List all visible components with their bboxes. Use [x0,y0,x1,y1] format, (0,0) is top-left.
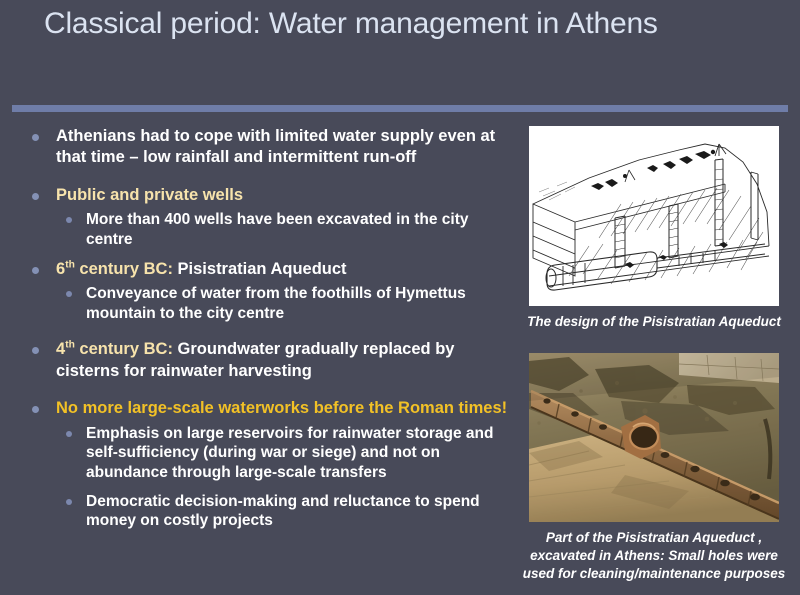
subbullet-text: More than 400 wells have been excavated … [86,211,469,248]
century-label: 4th century BC: [56,340,173,358]
subbullet-item-democratic: Democratic decision-making and reluctanc… [18,492,518,531]
subbullet-item-conveyance: Conveyance of water from the foothills o… [18,284,518,323]
bullet-item-no-more-waterworks: No more large-scale waterworks before th… [18,398,518,419]
figure-aqueduct-drawing: The design of the Pisistratian Aqueduct [529,126,779,331]
slide-title: Classical period: Water management in At… [44,4,734,44]
bullet-text: Pisistratian Aqueduct [173,260,347,278]
bullet-item-4th-century: 4th century BC: Groundwater gradually re… [18,339,518,382]
century-label-rest: century BC: [75,260,173,278]
bullet-text-highlight: No more large-scale waterworks before th… [56,399,507,417]
century-ordinal-suffix: th [65,259,75,270]
century-ordinal-suffix: th [65,340,75,351]
century-number: 6 [56,260,65,278]
figure-aqueduct-photo: Part of the Pisistratian Aqueduct , exca… [529,353,779,584]
aqueduct-drawing-image [529,126,779,306]
subbullet-item-400-wells: More than 400 wells have been excavated … [18,210,518,249]
subbullet-text: Conveyance of water from the foothills o… [86,285,466,322]
aqueduct-photo-image [529,353,779,522]
title-divider-bar [12,105,788,112]
century-label-rest: century BC: [75,340,173,358]
figure-caption: Part of the Pisistratian Aqueduct , exca… [518,529,790,584]
bullet-text: Athenians had to cope with limited water… [56,127,495,166]
figure-caption: The design of the Pisistratian Aqueduct [523,313,785,331]
bullet-text-highlight: Public and private wells [56,186,243,204]
century-number: 4 [56,340,65,358]
slide: Classical period: Water management in At… [0,0,800,595]
century-label: 6th century BC: [56,260,173,278]
subbullet-text: Democratic decision-making and reluctanc… [86,493,480,530]
subbullet-item-reservoirs: Emphasis on large reservoirs for rainwat… [18,424,518,483]
bullet-list: Athenians had to cope with limited water… [18,126,518,540]
subbullet-text: Emphasis on large reservoirs for rainwat… [86,425,493,481]
bullet-item-water-supply: Athenians had to cope with limited water… [18,126,518,169]
bullet-item-wells: Public and private wells [18,185,518,206]
bullet-item-6th-century: 6th century BC: Pisistratian Aqueduct [18,259,518,280]
